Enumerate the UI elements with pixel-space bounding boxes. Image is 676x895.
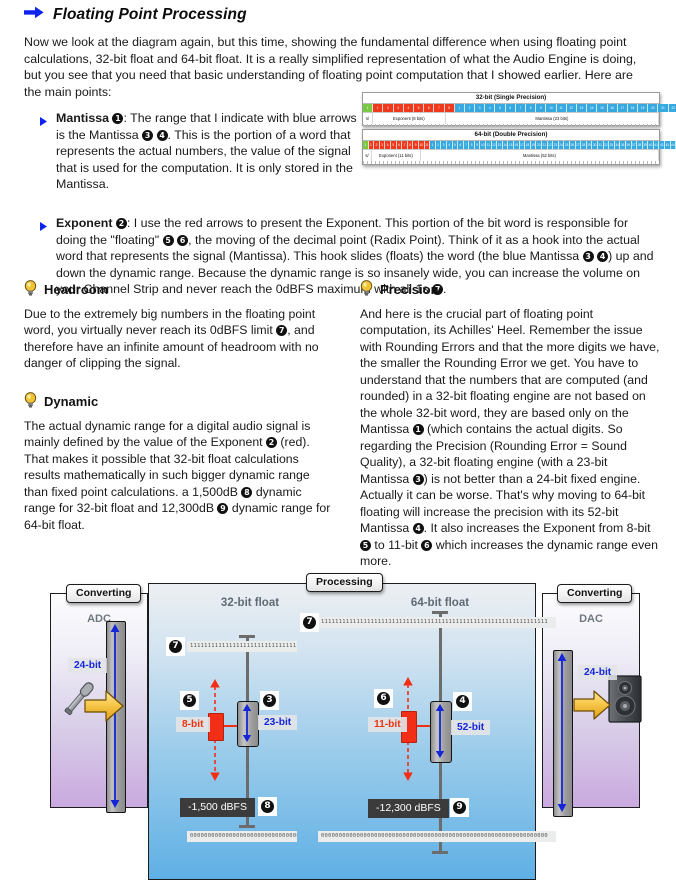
marker-number: 7 (169, 640, 182, 653)
bit-cell-mantissa: 15 (597, 104, 607, 112)
bit-cell-mantissa: 5 (495, 104, 505, 112)
text-a: And here is the crucial part of floating… (360, 307, 659, 437)
marker-number: 9 (453, 801, 466, 814)
marker-number: 6 (377, 692, 390, 705)
label-adc: ADC (50, 613, 148, 625)
marker-6: 6 (177, 235, 188, 246)
marker-4: 4 (413, 523, 424, 534)
float32-exponent-down-arrow-icon (208, 739, 222, 786)
marker-8-float32-dbfs: 8 (258, 797, 277, 816)
tab-converting-output[interactable]: Converting (557, 584, 632, 603)
lightbulb-icon (24, 280, 37, 301)
sign-label: s/ (363, 150, 372, 161)
bit-cell-mantissa: 2 (465, 104, 475, 112)
section-title: Headroom (44, 282, 108, 299)
bit-cell-mantissa: 44 (671, 141, 676, 149)
label-32bit-float: 32-bit float (170, 597, 330, 609)
text-e: to 11-bit (371, 538, 421, 552)
page-heading: Floating Point Processing (24, 6, 247, 24)
bit-label-row-32: s/ Exponent (8 bits) Mantissa (23 bits) (363, 112, 659, 124)
bit-cell-mantissa: 20 (648, 104, 658, 112)
marker-number: 7 (303, 616, 316, 629)
bit-cell-exponent: 4 (404, 104, 414, 112)
section-headroom: Headroom Due to the extremely big number… (24, 280, 336, 372)
bit-cell-exponent: 2 (383, 104, 393, 112)
triangle-bullet-icon (40, 113, 47, 193)
right-arrow-icon (24, 6, 44, 24)
text-d: . It also increases the Exponent from 8-… (424, 521, 651, 535)
dac-range-arrow-icon (556, 653, 568, 817)
bit-cell-exponent: 1 (373, 104, 383, 112)
bit-label-row-64: s/ Exponent (11 bits) Mantissa (52 bits) (363, 149, 659, 161)
bit-cell-mantissa: 4 (485, 104, 495, 112)
marker-4: 4 (597, 251, 608, 262)
marker-5: 5 (360, 540, 371, 551)
tick-row (363, 124, 659, 127)
marker-7-float32-top: 7 (166, 637, 185, 656)
tab-converting-input[interactable]: Converting (66, 584, 141, 603)
exponent-label: Exponent (8 bits) (373, 113, 446, 124)
bit-cell-mantissa: 19 (638, 104, 648, 112)
marker-9-float64-dbfs: 9 (450, 798, 469, 817)
bit-cell-mantissa: 7 (516, 104, 526, 112)
marker-1: 1 (413, 424, 424, 435)
bit-cell-exponent: 6 (424, 104, 434, 112)
bit-cell-row-32: 1123456781234567891011121314151617181920… (363, 104, 659, 112)
signal-flow-diagram: Converting Processing Converting ADC DAC… (30, 565, 650, 890)
float64-dbfs-label: -12,300 dBFS (368, 799, 449, 818)
bit-cell-mantissa: 22 (669, 104, 676, 112)
marker-2: 2 (266, 437, 277, 448)
marker-3: 3 (413, 474, 424, 485)
marker-4: 4 (157, 130, 168, 141)
bit-cell-mantissa: 6 (506, 104, 516, 112)
bit-word-figure: 32-bit (Single Precision) 11234567812345… (362, 90, 666, 168)
mantissa-label: Mantissa (52 bits) (421, 150, 659, 161)
yellow-arrow-icon (84, 689, 124, 728)
section-title: Dynamic (44, 394, 98, 411)
marker-6-float64-exponent: 6 (374, 689, 393, 708)
bit-cell-row-64: 1123456789101112345678910111213141516171… (363, 141, 659, 149)
bit-cell-mantissa: 21 (658, 104, 668, 112)
bit-cell-exponent: 5 (414, 104, 424, 112)
bullet-term: Mantissa (56, 111, 109, 125)
marker-number: 5 (183, 694, 196, 707)
bit-cell-mantissa: 3 (475, 104, 485, 112)
marker-number: 3 (263, 694, 276, 707)
bit-cell-mantissa: 8 (526, 104, 536, 112)
bit-card-title: 64-bit (Double Precision) (363, 130, 659, 141)
label-64bit-float: 64-bit float (360, 597, 520, 609)
section-body: And here is the crucial part of floating… (360, 306, 660, 570)
section-header: Precision (360, 280, 660, 301)
yellow-arrow-icon (573, 689, 611, 726)
bit-cell-mantissa: 10 (546, 104, 556, 112)
section-title: Precision (380, 282, 439, 299)
bit-cell-exponent: 7 (434, 104, 444, 112)
lightbulb-icon (360, 280, 373, 301)
float32-bottom-bits: 00000000000000000000000000000000 (187, 831, 297, 842)
marker-3: 3 (142, 130, 153, 141)
section-body: Due to the extremely big numbers in the … (24, 306, 336, 372)
bullet-term: Exponent (56, 216, 112, 230)
section-dynamic: Dynamic The actual dynamic range for a d… (24, 392, 336, 533)
float64-mantissa-arrow-icon (434, 704, 446, 763)
bit-cell-mantissa: 16 (608, 104, 618, 112)
bit-cell-exponent: 3 (394, 104, 404, 112)
marker-4-float64-mantissa: 4 (453, 692, 472, 711)
bullet-mantissa-text: Mantissa 1: The range that I indicate wi… (56, 110, 361, 193)
label-dac: DAC (542, 613, 640, 625)
section-header: Dynamic (24, 392, 336, 413)
float32-mantissa-arrow-icon (241, 704, 253, 747)
section-body: The actual dynamic range for a digital a… (24, 418, 336, 534)
marker-3-float32-mantissa: 3 (260, 691, 279, 710)
bit-card-title: 32-bit (Single Precision) (363, 93, 659, 104)
bit-cell-mantissa: 12 (567, 104, 577, 112)
bit-cell-mantissa: 14 (587, 104, 597, 112)
section-header: Headroom (24, 280, 336, 301)
marker-7: 7 (276, 325, 287, 336)
marker-1: 1 (112, 113, 123, 124)
float32-top-bits: 11111111111111111111111111111111 (187, 641, 297, 652)
marker-7-float64-top: 7 (300, 613, 319, 632)
float64-bottom-bits: 0000000000000000000000000000000000000000… (318, 831, 556, 842)
exponent-label: Exponent (11 bits) (372, 150, 421, 161)
speaker-icon (608, 675, 642, 728)
marker-3: 3 (583, 251, 594, 262)
marker-9: 9 (217, 503, 228, 514)
marker-2: 2 (116, 218, 127, 229)
bit-cell-mantissa: 13 (577, 104, 587, 112)
page-root: Floating Point Processing Now we look at… (0, 0, 676, 895)
page-title: Floating Point Processing (53, 6, 247, 24)
marker-number: 4 (456, 695, 469, 708)
mantissa-label: Mantissa (23 bits) (446, 113, 659, 124)
marker-6: 6 (421, 540, 432, 551)
tick-row (363, 161, 659, 164)
lightbulb-icon (24, 392, 37, 413)
marker-5: 5 (163, 235, 174, 246)
bit-cell-mantissa: 9 (536, 104, 546, 112)
marker-number: 8 (261, 800, 274, 813)
bit-card-32: 32-bit (Single Precision) 11234567812345… (362, 92, 660, 126)
chip-adc-24bit: 24-bit (68, 658, 107, 673)
float32-dbfs-label: -1,500 dBFS (180, 798, 255, 817)
text-a: Due to the extremely big numbers in the … (24, 307, 315, 338)
bit-cell-mantissa: 17 (618, 104, 628, 112)
tab-processing[interactable]: Processing (306, 573, 383, 592)
marker-8: 8 (241, 487, 252, 498)
bit-cell-exponent: 8 (445, 104, 455, 112)
sign-label: s/ (363, 113, 373, 124)
float32-exponent-block (208, 713, 224, 741)
bit-cell-mantissa: 11 (557, 104, 567, 112)
bit-cell-sign: 1 (363, 104, 373, 112)
marker-5-float32-exponent: 5 (180, 691, 199, 710)
chip-float32-exponent: 8-bit (176, 717, 210, 732)
section-precision: Precision And here is the crucial part o… (360, 280, 660, 570)
bit-cell-mantissa: 18 (628, 104, 638, 112)
bit-card-64: 64-bit (Double Precision) 11234567891011… (362, 129, 660, 165)
float64-exponent-down-arrow-icon (401, 741, 415, 786)
chip-float64-mantissa: 52-bit (451, 720, 490, 735)
chip-float32-mantissa: 23-bit (258, 715, 297, 730)
chip-float64-exponent: 11-bit (368, 717, 407, 732)
bit-cell-mantissa: 1 (455, 104, 465, 112)
float64-top-bits: 1111111111111111111111111111111111111111… (318, 617, 556, 628)
chip-dac-24bit: 24-bit (578, 665, 617, 680)
